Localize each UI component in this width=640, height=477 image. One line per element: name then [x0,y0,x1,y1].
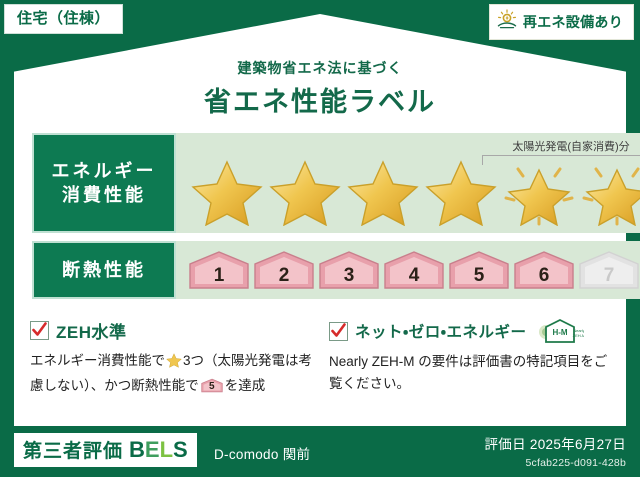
evaluation-date: 評価日 2025年6月27日 [484,433,626,453]
building-name: D-comodo 関前 [214,443,310,463]
checkmark-icon [331,323,346,339]
bels-letter-l: L [160,437,173,462]
energy-performance-label-block: エネルギー 消費性能 [32,133,176,233]
solar-star-icon [580,156,640,226]
insulation-label-line1: 断熱性能 [62,258,146,282]
energy-performance-label: 住宅（住棟） 再エネ設備あり 建築物省エネ法に基づく 省エネ性能ラベル [0,0,640,477]
insulation-chip-value: 7 [604,265,615,287]
claim-body: Nearly ZEH-M の要件は評価書の特記項目をご覧ください。 [329,351,612,394]
label-footer: 第三者評価 BELS D-comodo 関前 評価日 2025年6月27日 5c… [0,426,640,477]
renewable-badge-label: 再エネ設備あり [523,12,623,32]
claim-header: ZEH水準 [30,318,313,343]
energy-label-line1: エネルギー [52,159,157,183]
inline-chip-value: 5 [201,379,223,395]
document-id: 5cfab225-d091-428b [525,457,626,469]
checked-checkbox[interactable] [329,322,348,341]
bels-jp-text: 第三者評価 [23,436,123,463]
insulation-chip-value: 2 [279,265,290,287]
insulation-chip: 3 [318,250,380,290]
solar-star-icon [502,156,576,226]
insulation-chip-value: 4 [409,265,420,287]
bels-certification-mark: 第三者評価 BELS [14,433,197,467]
claim-zeh-standard: ZEH水準 エネルギー消費性能で3つ（太陽光発電は考慮しない）、かつ断熱性能で5… [30,318,313,396]
energy-label-line2: 消費性能 [62,183,146,207]
zeh-m-logo: H-M Nearly ZEH-M [538,318,584,344]
claims-section: ZEH水準 エネルギー消費性能で3つ（太陽光発電は考慮しない）、かつ断熱性能で5… [30,318,612,396]
insulation-grade-chips: 1 2 3 4 5 [176,250,640,290]
star-icon [190,156,264,226]
bels-letter-b: B [129,437,145,462]
insulation-chip-value: 3 [344,265,355,287]
grading-rows: エネルギー 消費性能 太陽光発電(自家消費)分 [32,133,610,307]
building-type-tag: 住宅（住棟） [4,4,123,34]
claim-header: ネット・ゼロ・エネルギー H-M Nearly ZEH-M [329,318,612,344]
inline-star-icon [166,352,182,375]
label-subtitle: 建築物省エネ法に基づく [0,58,640,78]
label-title: 省エネ性能ラベル [0,80,640,119]
solar-annotation-text: 太陽光発電(自家消費)分 [476,138,640,154]
insulation-performance-label-block: 断熱性能 [32,241,176,299]
claim-title: ネット・ゼロ・エネルギー [355,320,527,342]
claim-body-part3: を達成 [225,378,266,393]
insulation-chip-value: 6 [539,265,550,287]
insulation-chip-value: 1 [214,265,225,287]
svg-text:ZEH-M: ZEH-M [572,333,583,338]
claim-body-star-count: 3つ [183,353,204,368]
checked-checkbox[interactable] [30,321,49,340]
claim-body: エネルギー消費性能で3つ（太陽光発電は考慮しない）、かつ断熱性能で5を達成 [30,350,313,396]
sun-icon [496,9,518,34]
inline-insulation-chip: 5 [201,377,223,394]
claim-net-zero-energy: ネット・ゼロ・エネルギー H-M Nearly ZEH-M Nearly ZEH… [329,318,612,396]
insulation-chip-value: 5 [474,265,485,287]
star-icon [268,156,342,226]
bels-letter-s: S [173,437,188,462]
bels-letter-e: E [145,437,160,462]
insulation-chip-inactive: 7 [578,250,640,290]
insulation-chip: 4 [383,250,445,290]
insulation-chip: 6 [513,250,575,290]
star-icon [346,156,420,226]
claim-title: ZEH水準 [56,318,127,343]
renewable-energy-badge: 再エネ設備あり [489,4,634,40]
energy-rating-body: 太陽光発電(自家消費)分 [176,133,640,233]
claim-body-part1: エネルギー消費性能で [30,353,165,368]
solar-annotation-bracket [482,155,640,165]
star-icon [424,156,498,226]
insulation-chip: 2 [253,250,315,290]
insulation-performance-row: 断熱性能 1 2 3 [32,241,610,299]
checkmark-icon [32,322,47,338]
insulation-chip: 1 [188,250,250,290]
energy-performance-row: エネルギー 消費性能 太陽光発電(自家消費)分 [32,133,610,233]
svg-text:H-M: H-M [552,328,567,337]
insulation-chip: 5 [448,250,510,290]
insulation-rating-body: 1 2 3 4 5 [176,241,640,299]
bels-logo-text: BELS [129,437,188,463]
